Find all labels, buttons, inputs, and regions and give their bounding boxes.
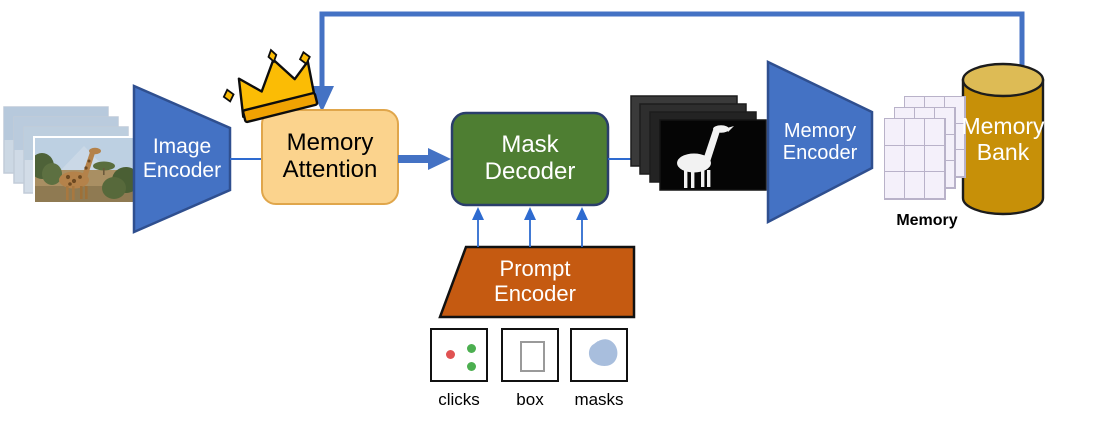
edge-promptencoder-to-maskdecoder <box>472 207 588 247</box>
negative-click-dot <box>446 350 455 359</box>
memory-grid-cell <box>905 146 925 173</box>
mask-blob-shape <box>572 330 628 382</box>
node-image-encoder[interactable] <box>134 86 230 232</box>
edge-memoryattention-to-maskdecoder <box>398 148 451 170</box>
clicks-caption: clicks <box>430 390 488 410</box>
memory-grid-cell <box>885 119 905 146</box>
memory-grid-cell <box>925 172 945 199</box>
memory-grid-cell <box>905 119 925 146</box>
input-video-frames <box>4 107 140 203</box>
node-memory-bank[interactable] <box>963 64 1043 214</box>
box-prompt-icon[interactable] <box>501 328 559 382</box>
memory-feature-grid <box>884 96 974 216</box>
box-caption: box <box>501 390 559 410</box>
diagram-canvas: Image Encoder Memory Attention Mask Deco… <box>0 0 1100 439</box>
node-prompt-encoder[interactable] <box>440 247 634 317</box>
memory-caption: Memory <box>884 212 970 230</box>
node-mask-decoder[interactable] <box>452 113 608 205</box>
node-memory-encoder[interactable] <box>768 62 872 222</box>
output-mask-frames <box>631 96 766 190</box>
positive-click-dot-1 <box>467 344 476 353</box>
node-memory-attention[interactable] <box>262 110 398 204</box>
masks-caption: masks <box>566 390 632 410</box>
memory-grid-cell <box>885 172 905 199</box>
positive-click-dot-2 <box>467 362 476 371</box>
memory-grid-cell <box>925 119 945 146</box>
clicks-prompt-icon[interactable] <box>430 328 488 382</box>
memory-grid-card-front <box>884 118 946 200</box>
memory-grid-cell <box>885 146 905 173</box>
memory-grid-cell <box>925 146 945 173</box>
memory-grid-cell <box>905 172 925 199</box>
box-outline-shape <box>520 341 545 372</box>
masks-prompt-icon[interactable] <box>570 328 628 382</box>
